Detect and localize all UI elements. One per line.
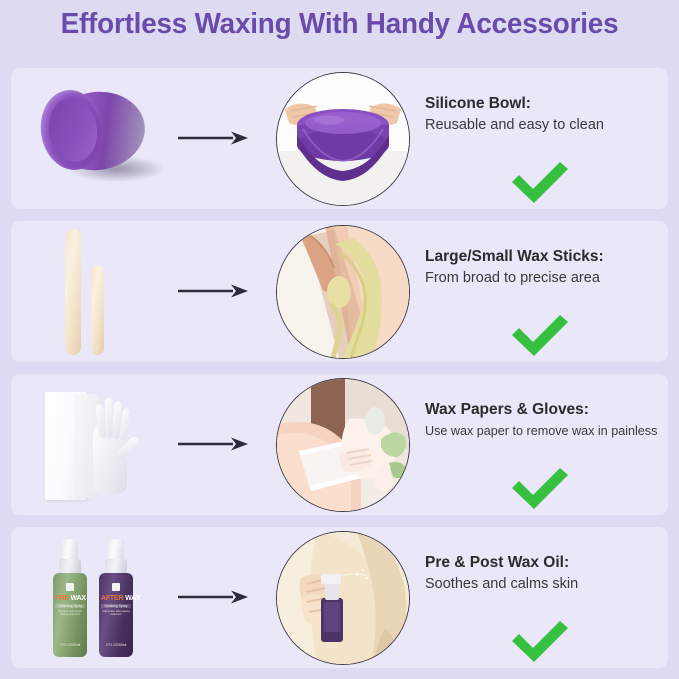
green-check-icon [509,619,571,663]
green-check-icon [509,160,571,204]
feature-card-silicone-bowl: Silicone Bowl: Reusable and easy to clea… [11,68,668,209]
bottle-detail: Calms skin after waxing treatment [101,610,131,617]
product-image-wax-sticks [23,221,175,362]
photo-silicone-bowl-in-hands [276,72,410,206]
bottle-after-wax: AFTER WAX Soothing Spray Calms skin afte… [99,539,133,657]
wax-stick-small [91,265,104,355]
feature-text-pre-post-wax-oil: Pre & Post Wax Oil: Soothes and calms sk… [425,553,675,594]
bottle-detail: Prepares skin before waxing treatment [55,610,85,617]
bottle-subtitle: Cleansing Spray [55,604,85,608]
product-image-wax-oil-bottles: PRE WAX Cleansing Spray Prepares skin be… [23,527,175,668]
green-check-icon [509,313,571,357]
feature-description: Use wax paper to remove wax in painless [425,422,675,441]
right-arrow-icon [177,283,249,299]
bottle-pre-wax: PRE WAX Cleansing Spray Prepares skin be… [53,539,87,657]
photo-gloved-hand-wax-paper [276,378,410,512]
bottle-name: PRE WAX [55,595,85,603]
feature-text-wax-papers-gloves: Wax Papers & Gloves: Use wax paper to re… [425,400,675,441]
bottle-label-post: AFTER WAX Soothing Spray Calms skin afte… [101,595,131,617]
bottle-name-suffix: WAX [71,595,86,602]
wax-stick-large [65,229,81,355]
feature-card-wax-sticks: Large/Small Wax Sticks: From broad to pr… [11,221,668,362]
feature-heading: Pre & Post Wax Oil: [425,553,675,573]
feature-card-wax-papers-gloves: Wax Papers & Gloves: Use wax paper to re… [11,374,668,515]
bottle-label-pre: PRE WAX Cleansing Spray Prepares skin be… [55,595,85,617]
feature-description: Soothes and calms skin [425,575,675,594]
photo-spraying-oil-on-skin [276,531,410,665]
feature-description: Reusable and easy to clean [425,116,675,135]
feature-heading: Silicone Bowl: [425,94,675,114]
photo-wax-on-leg [276,225,410,359]
bottle-volume: 2 FL OZ/60ml [101,643,131,647]
bottle-subtitle: Soothing Spray [101,604,131,608]
feature-description: From broad to precise area [425,269,675,288]
product-image-silicone-bowl [23,68,175,209]
green-check-icon [509,466,571,510]
feature-text-silicone-bowl: Silicone Bowl: Reusable and easy to clea… [425,94,675,135]
bottle-name-suffix: WAX [125,595,140,602]
bottle-volume: 2 FL OZ/60ml [55,643,85,647]
feature-heading: Wax Papers & Gloves: [425,400,675,420]
brand-logo-icon [112,583,120,591]
product-image-wax-papers-gloves [23,374,175,515]
brand-logo-icon [66,583,74,591]
feature-card-pre-post-wax-oil: PRE WAX Cleansing Spray Prepares skin be… [11,527,668,668]
feature-heading: Large/Small Wax Sticks: [425,247,675,267]
right-arrow-icon [177,589,249,605]
bottle-name-prefix: AFTER [101,595,123,602]
bottle-name: AFTER WAX [101,595,131,603]
bottle-name-prefix: PRE [55,595,69,602]
bottle-cap [108,539,124,561]
right-arrow-icon [177,436,249,452]
page-title: Effortless Waxing With Handy Accessories [14,8,666,41]
feature-text-wax-sticks: Large/Small Wax Sticks: From broad to pr… [425,247,675,288]
bottle-cap [62,539,78,561]
right-arrow-icon [177,130,249,146]
